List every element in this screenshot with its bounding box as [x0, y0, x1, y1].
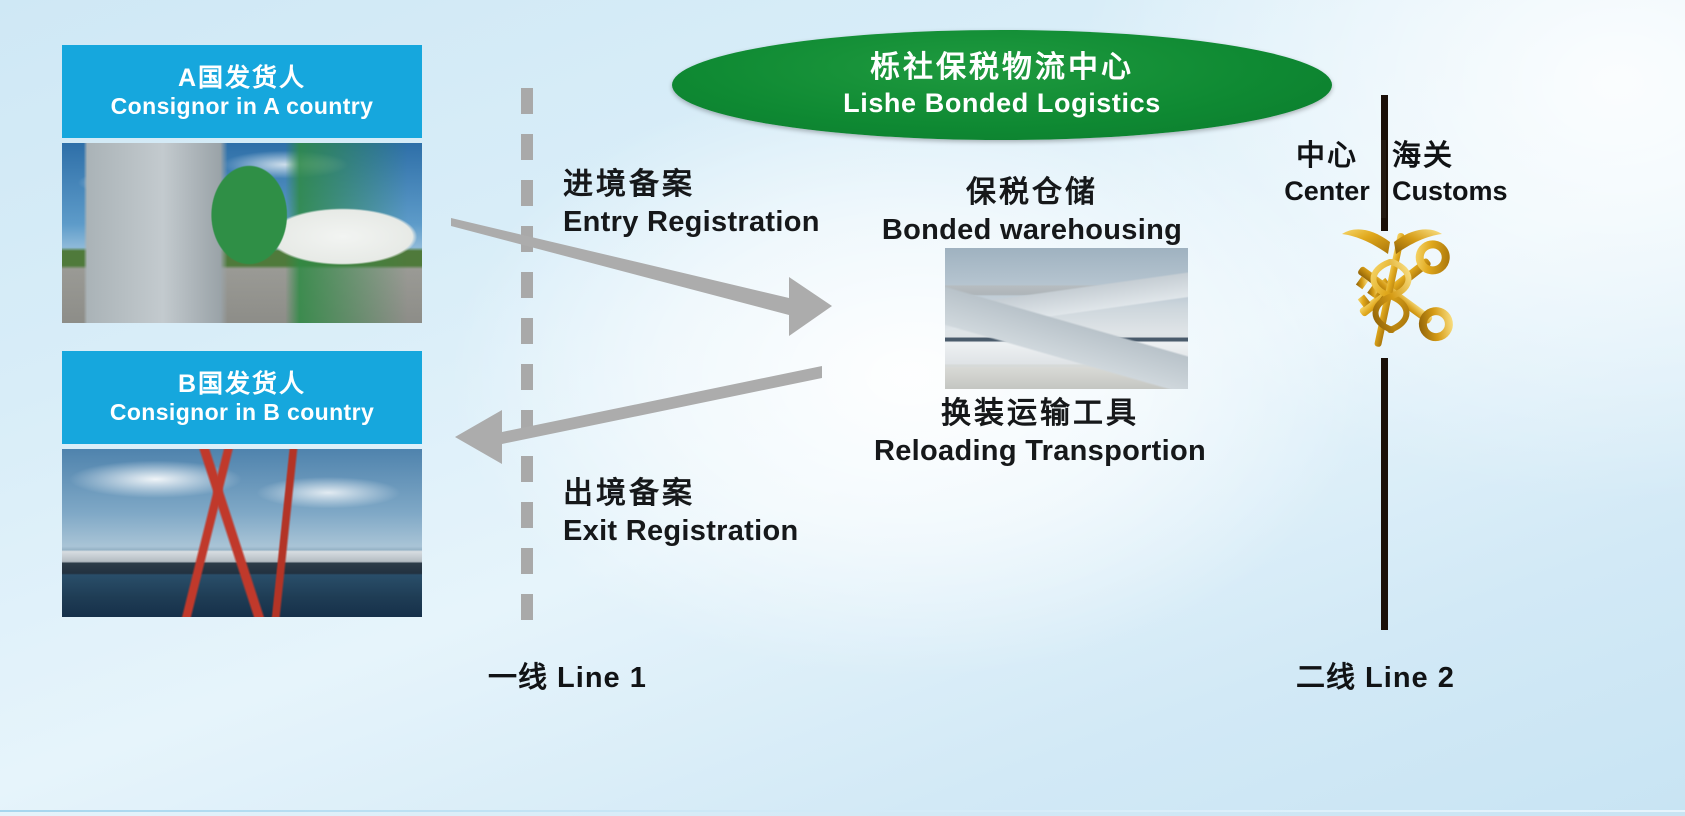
consignor-a-label-box: A国发货人 Consignor in A country [62, 45, 422, 138]
entry-registration-caption: 进境备案 Entry Registration [563, 168, 820, 239]
customs-label-zh: 海关 [1392, 140, 1532, 174]
customs-label-en: Customs [1392, 176, 1532, 207]
customs-keys-caduceus-emblem [1342, 229, 1454, 347]
entry-registration-zh: 进境备案 [563, 168, 820, 203]
center-label-zh: 中心 [1272, 140, 1382, 174]
line-2-label: 二线 Line 2 [1296, 654, 1455, 696]
center-customs-divider [1381, 140, 1386, 218]
line-1-label: 一线 Line 1 [488, 654, 647, 696]
line-2-solid-divider-lower [1381, 358, 1388, 630]
consignor-b-label-en: Consignor in B country [110, 400, 374, 426]
bonded-logistics-diagram: A国发货人 Consignor in A country B国发货人 Consi… [0, 0, 1685, 816]
exit-registration-caption: 出境备案 Exit Registration [563, 477, 799, 548]
bonded-warehouse-photo [945, 248, 1188, 389]
bottom-divider-rule [0, 810, 1685, 812]
bonded-center-title-zh: 栎社保税物流中心 [870, 51, 1134, 85]
customs-side-label: 海关 Customs [1392, 140, 1532, 207]
center-side-label: 中心 Center [1272, 140, 1382, 207]
bonded-warehousing-zh: 保税仓储 [872, 176, 1192, 211]
exit-registration-arrow [455, 341, 822, 464]
exit-registration-en: Exit Registration [563, 515, 799, 548]
consignor-b-label-zh: B国发货人 [178, 370, 306, 398]
seaport-cranes-photo [62, 449, 422, 617]
reloading-transportion-caption: 换装运输工具 Reloading Transportion [840, 397, 1240, 468]
consignor-b-label-box: B国发货人 Consignor in B country [62, 351, 422, 444]
center-label-en: Center [1272, 176, 1382, 207]
entry-registration-en: Entry Registration [563, 206, 820, 239]
consignor-a-label-zh: A国发货人 [178, 64, 306, 92]
bonded-warehousing-caption: 保税仓储 Bonded warehousing [872, 176, 1192, 247]
bonded-warehousing-en: Bonded warehousing [872, 214, 1192, 247]
air-cargo-loading-photo [62, 143, 422, 323]
consignor-a-label-en: Consignor in A country [111, 94, 374, 120]
reloading-transportion-zh: 换装运输工具 [840, 397, 1240, 432]
line-1-dashed-divider [521, 88, 533, 628]
exit-registration-zh: 出境备案 [563, 477, 799, 512]
bonded-logistics-center-ellipse: 栎社保税物流中心 Lishe Bonded Logistics [672, 30, 1332, 140]
bonded-center-title-en: Lishe Bonded Logistics [843, 88, 1161, 119]
reloading-transportion-en: Reloading Transportion [840, 435, 1240, 468]
